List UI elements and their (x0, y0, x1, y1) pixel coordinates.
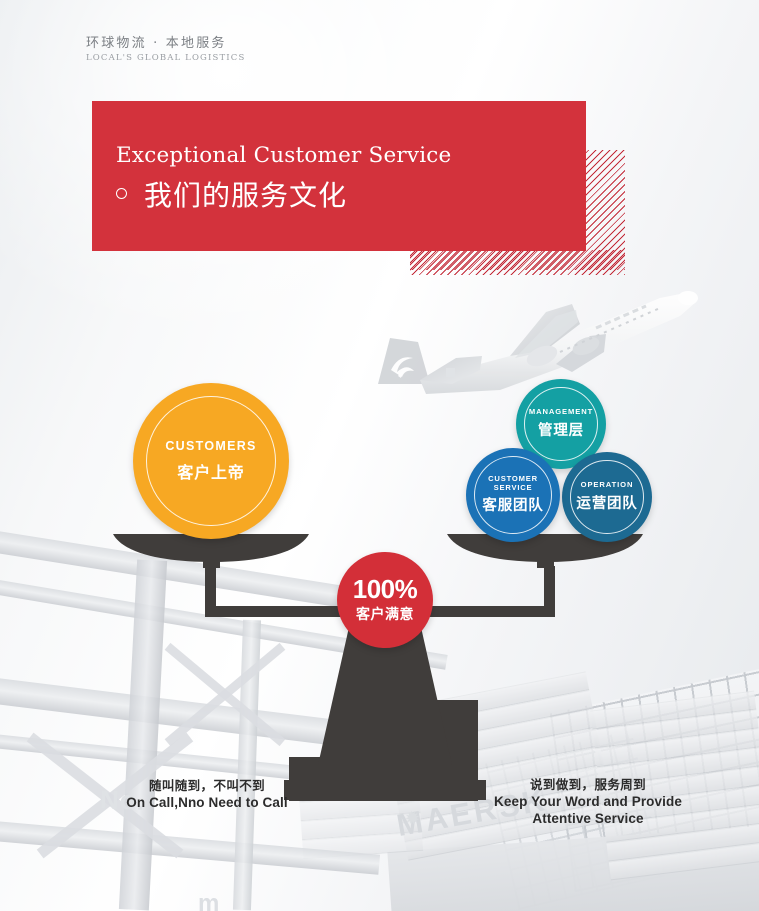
circle-customer-service[interactable]: CUSTOMER SERVICE 客服团队 (466, 448, 560, 542)
circle-customer-service-label-en-line2: SERVICE (494, 484, 533, 493)
caption-right: 说到做到，服务周到 Keep Your Word and Provide Att… (490, 774, 686, 828)
satisfaction-label-cn: 客户满意 (356, 604, 414, 624)
circle-management-label-en: MANAGEMENT (529, 408, 593, 417)
circle-operation-label-cn: 运营团队 (576, 492, 637, 513)
caption-left-en: On Call,Nno Need to Call (118, 795, 296, 810)
circle-customers-label-cn: 客户上帝 (177, 459, 244, 483)
circle-customers-label-en: CUSTOMERS (165, 439, 256, 454)
caption-left: 随叫随到，不叫不到 On Call,Nno Need to Call (118, 775, 296, 810)
caption-right-en: Keep Your Word and Provide Attentive Ser… (490, 794, 686, 828)
slide-canvas: No. MAERSK ✹ m 环球物流 · 本地服务 LOCAL'S GLOBA… (0, 0, 759, 911)
circle-customer-service-label-cn: 客服团队 (482, 494, 543, 515)
badge-satisfaction[interactable]: 100% 客户满意 (337, 552, 433, 648)
satisfaction-value: 100% (353, 576, 418, 602)
caption-right-cn: 说到做到，服务周到 (490, 774, 686, 793)
circle-management-label-cn: 管理层 (538, 419, 584, 440)
circle-customers[interactable]: CUSTOMERS 客户上帝 (133, 383, 289, 539)
circle-operation[interactable]: OPERATION 运营团队 (562, 452, 652, 542)
caption-left-cn: 随叫随到，不叫不到 (118, 775, 296, 794)
circle-operation-label-en: OPERATION (581, 481, 634, 490)
